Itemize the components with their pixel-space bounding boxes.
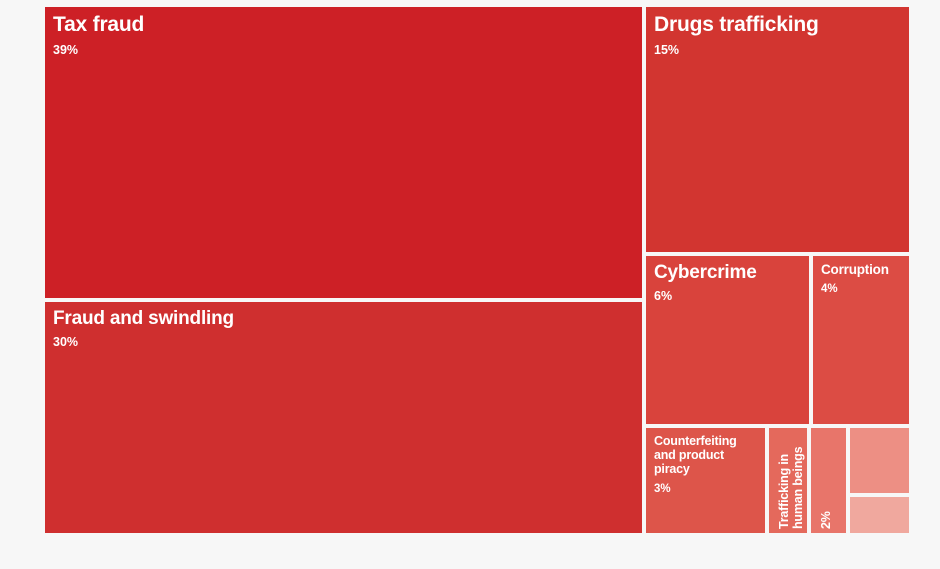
- treemap-tile-value: 15%: [654, 44, 905, 58]
- treemap-tile-counterfeiting-and-product-piracy[interactable]: Counterfeiting and product piracy3%: [644, 426, 767, 535]
- treemap-tile-label: 2%: [819, 436, 833, 529]
- treemap-tile-value: 6%: [654, 290, 805, 304]
- treemap-tile-label: Cybercrime: [654, 262, 805, 283]
- treemap-tile-text: Corruption4%: [821, 262, 905, 296]
- treemap-tile-value: 3%: [654, 483, 761, 496]
- treemap-tile-text: Drugs trafficking15%: [654, 13, 905, 57]
- treemap-tile-text: Tax fraud39%: [53, 13, 638, 57]
- treemap-tile-unlabeled-block-2[interactable]: [848, 495, 911, 535]
- treemap-tile-tax-fraud[interactable]: Tax fraud39%: [43, 5, 644, 300]
- treemap-tile-value: 30%: [53, 336, 638, 350]
- treemap-tile-label: Counterfeiting and product piracy: [654, 434, 761, 476]
- treemap-tile-value: 39%: [53, 44, 638, 58]
- treemap-tile-text: Counterfeiting and product piracy3%: [654, 434, 761, 496]
- treemap-tile-trafficking-value[interactable]: 2%: [809, 426, 848, 535]
- treemap-tile-unlabeled-block-1[interactable]: [848, 426, 911, 495]
- treemap-tile-drugs-trafficking[interactable]: Drugs trafficking15%: [644, 5, 911, 254]
- treemap-tile-value: 4%: [821, 283, 905, 296]
- treemap-tile-trafficking-in-human-beings[interactable]: Trafficking in human beings: [767, 426, 809, 535]
- treemap-tile-label: Corruption: [821, 262, 905, 277]
- treemap-tile-text: Cybercrime6%: [654, 262, 805, 304]
- treemap-tile-fraud-and-swindling[interactable]: Fraud and swindling30%: [43, 300, 644, 535]
- treemap-tile-vertical-text-holder: 2%: [811, 428, 846, 533]
- treemap-tile-label: Fraud and swindling: [53, 308, 638, 329]
- treemap-tile-vertical-text-holder: Trafficking in human beings: [769, 428, 807, 533]
- treemap-tile-label: Trafficking in human beings: [777, 436, 805, 529]
- treemap-tile-corruption[interactable]: Corruption4%: [811, 254, 911, 426]
- treemap-tile-text: Fraud and swindling30%: [53, 308, 638, 350]
- treemap-tile-cybercrime[interactable]: Cybercrime6%: [644, 254, 811, 426]
- treemap-chart: Tax fraud39%Fraud and swindling30%Drugs …: [43, 5, 911, 535]
- treemap-tile-label: Drugs trafficking: [654, 13, 905, 37]
- treemap-tile-label: Tax fraud: [53, 13, 638, 37]
